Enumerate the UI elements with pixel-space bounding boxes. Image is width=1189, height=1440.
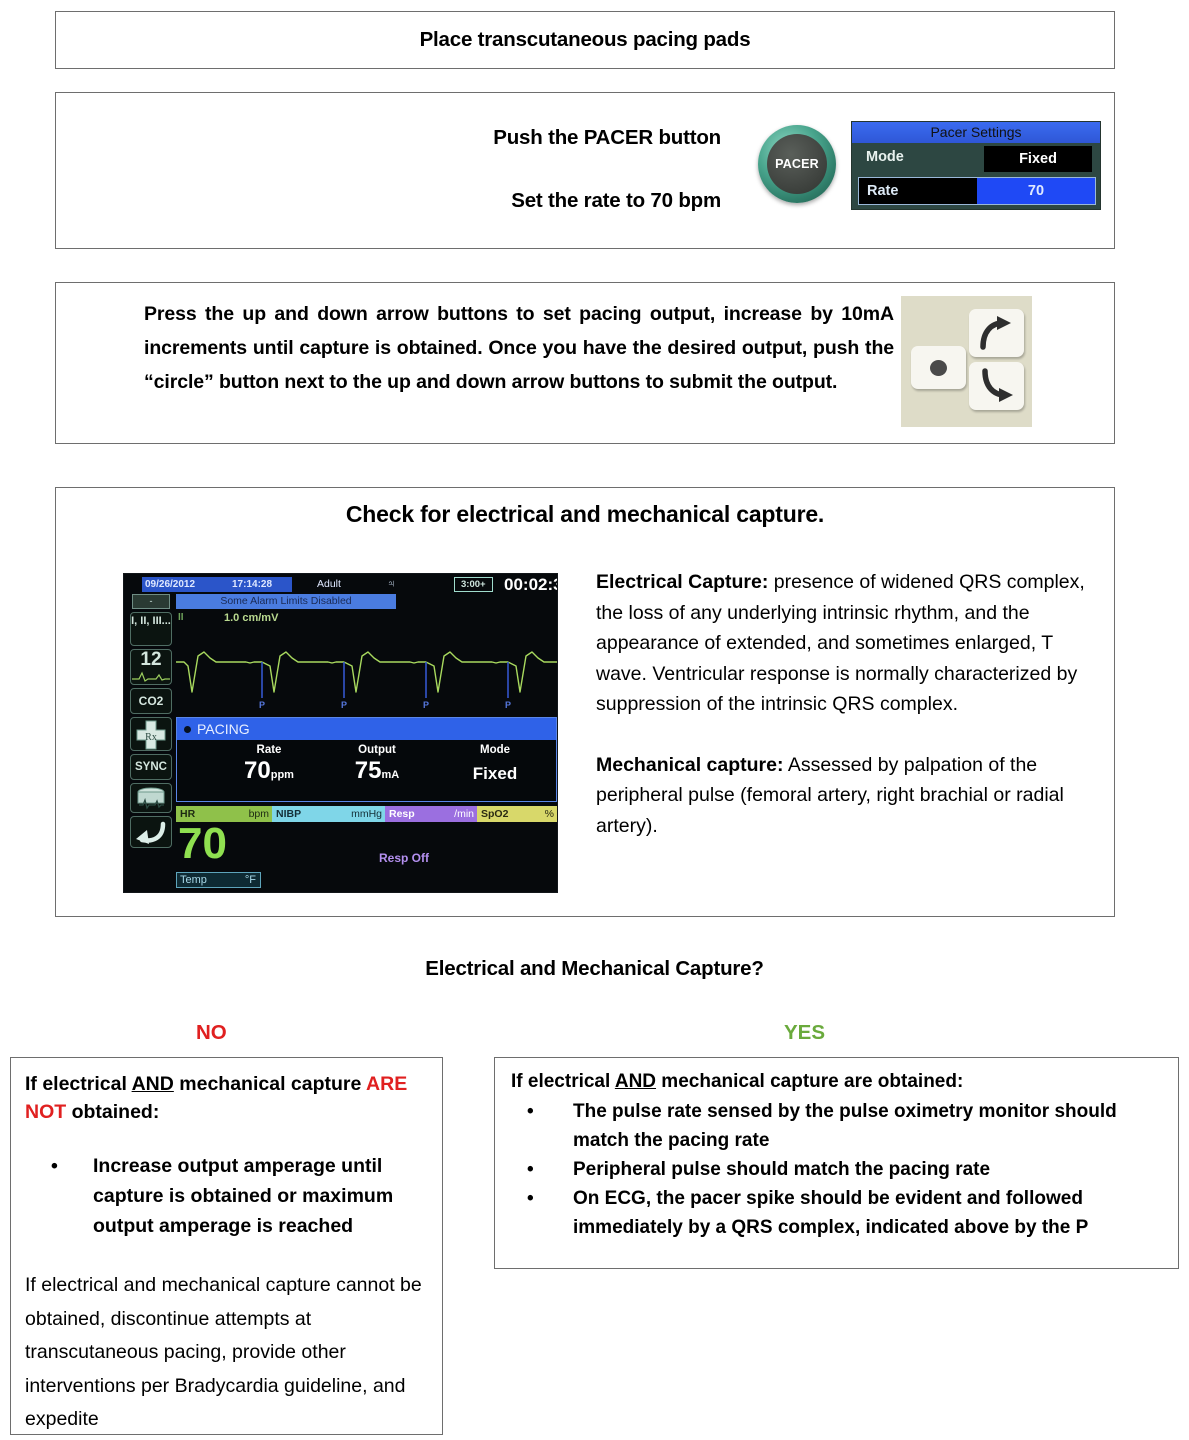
ecg-mini-icon bbox=[132, 670, 170, 682]
list-item: • On ECG, the pacer spike should be evid… bbox=[527, 1184, 1172, 1242]
monitor-pacing-rate: Rate 70ppm bbox=[219, 744, 319, 786]
up-arrow-button[interactable] bbox=[969, 309, 1024, 357]
electrical-capture-title: Electrical Capture: bbox=[596, 571, 768, 593]
yes-heading-and: AND bbox=[615, 1071, 656, 1092]
vital-spo2-header: SpO2 % bbox=[477, 806, 557, 822]
monitor-alarm-message: Some Alarm Limits Disabled bbox=[176, 594, 396, 609]
monitor-rail-sync-button[interactable]: SYNC bbox=[130, 754, 172, 780]
vital-spo2-label: SpO2 bbox=[481, 806, 508, 822]
bullet-marker-icon: • bbox=[527, 1155, 573, 1184]
vital-nibp-label: NIBP bbox=[276, 806, 301, 822]
bullet-marker-icon: • bbox=[51, 1151, 93, 1241]
svg-text:P: P bbox=[259, 700, 265, 710]
no-branch-bullet-item: • Increase output amperage until capture… bbox=[51, 1151, 441, 1241]
pacing-mode-label: Mode bbox=[445, 744, 545, 756]
pacing-output-label: Output bbox=[327, 744, 427, 756]
monitor-pacing-output: Output 75mA bbox=[327, 744, 427, 786]
list-item: • The pulse rate sensed by the pulse oxi… bbox=[527, 1097, 1172, 1155]
yes-bullet-text-1: The pulse rate sensed by the pulse oxime… bbox=[573, 1097, 1172, 1155]
page-title: Place transcutaneous pacing pads bbox=[56, 12, 1114, 67]
step-4-box: Check for electrical and mechanical capt… bbox=[55, 487, 1115, 917]
no-branch-heading: If electrical AND mechanical capture ARE… bbox=[25, 1070, 425, 1126]
arrow-buttons-photo bbox=[901, 296, 1032, 427]
no-heading-and: AND bbox=[132, 1073, 174, 1095]
ecg-lead-label: II bbox=[178, 612, 184, 623]
no-branch-bullet-text: Increase output amperage until capture i… bbox=[93, 1151, 441, 1241]
monitor-pacing-title: PACING bbox=[177, 718, 556, 740]
mechanical-capture-paragraph: Mechanical capture: Assessed by palpatio… bbox=[596, 750, 1088, 842]
defibrillator-monitor-screen: 09/26/2012 17:14:28 Adult ♃ 3:00+ 00:02:… bbox=[123, 573, 558, 893]
monitor-pacing-panel: PACING Rate 70ppm Output 75mA Mode Fixed bbox=[176, 717, 557, 802]
monitor-alarm-button[interactable]: - bbox=[132, 594, 170, 609]
set-rate-instruction: Set the rate to 70 bpm bbox=[56, 189, 721, 213]
monitor-temp-cell: Temp °F bbox=[176, 872, 261, 888]
monitor-hr-value: 70 bbox=[178, 822, 227, 866]
pacing-output-value: 75 bbox=[355, 757, 382, 784]
pacer-button-face: PACER bbox=[767, 134, 827, 194]
pacer-mode-row[interactable]: Mode Fixed bbox=[852, 143, 1100, 175]
ecg-trace: P P P P bbox=[176, 630, 557, 710]
pacer-settings-panel: Pacer Settings Mode Fixed Rate 70 bbox=[851, 121, 1101, 210]
yes-branch-heading: If electrical AND mechanical capture are… bbox=[511, 1069, 1161, 1095]
monitor-resp-status: Resp Off bbox=[379, 851, 429, 865]
monitor-countdown-badge: 3:00+ bbox=[454, 577, 493, 592]
monitor-rail-rx-button[interactable]: Rx bbox=[130, 717, 172, 751]
vital-nibp-unit: mmHg bbox=[351, 806, 382, 822]
check-capture-heading: Check for electrical and mechanical capt… bbox=[56, 501, 1114, 528]
yes-heading-part1: If electrical bbox=[511, 1071, 615, 1092]
pacer-rate-row[interactable]: Rate 70 bbox=[858, 177, 1096, 205]
pacing-mode-value: Fixed bbox=[445, 756, 545, 789]
vital-resp-label: Resp bbox=[389, 806, 415, 822]
yes-heading-part2: mechanical capture are obtained: bbox=[656, 1071, 963, 1092]
pacing-rate-value: 70 bbox=[244, 757, 271, 784]
pacing-output-unit: mA bbox=[381, 769, 399, 781]
bullet-marker-icon: • bbox=[527, 1184, 573, 1242]
ecg-waveform-area: II 1.0 cm/mV P P bbox=[176, 612, 557, 712]
monitor-elapsed-timer: 00:02:35 bbox=[504, 575, 558, 594]
ecg-gain-label: 1.0 cm/mV bbox=[224, 612, 278, 624]
printer-icon bbox=[133, 785, 169, 811]
no-heading-part2: mechanical capture bbox=[174, 1073, 366, 1095]
svg-text:P: P bbox=[505, 700, 511, 710]
medication-cross-icon: Rx bbox=[134, 720, 168, 750]
pacer-rate-value: 70 bbox=[977, 178, 1095, 204]
list-item: • Peripheral pulse should match the paci… bbox=[527, 1155, 1172, 1184]
down-arrow-button[interactable] bbox=[969, 362, 1024, 410]
step-1-box: Place transcutaneous pacing pads bbox=[55, 11, 1115, 69]
step-3-box: Press the up and down arrow buttons to s… bbox=[55, 282, 1115, 444]
bullet-marker-icon: • bbox=[527, 1097, 573, 1155]
circle-submit-button[interactable] bbox=[911, 346, 966, 389]
push-pacer-instruction: Push the PACER button bbox=[56, 126, 721, 150]
monitor-rail-leads-button[interactable]: I, II, III... bbox=[130, 612, 172, 646]
monitor-vitals-strip: HR bpm NIBP mmHg Resp /min SpO2 % bbox=[176, 806, 557, 822]
vital-resp-unit: /min bbox=[454, 806, 474, 822]
monitor-rail-12lead-label: 12 bbox=[131, 650, 171, 670]
electrical-capture-paragraph: Electrical Capture: presence of widened … bbox=[596, 567, 1088, 720]
vital-spo2-unit: % bbox=[545, 806, 554, 822]
pacing-title-text: PACING bbox=[197, 721, 250, 737]
monitor-temp-label: Temp bbox=[180, 873, 207, 887]
pacer-button-label: PACER bbox=[775, 157, 819, 171]
monitor-time: 17:14:28 bbox=[232, 577, 272, 592]
monitor-temp-unit: °F bbox=[245, 873, 256, 887]
svg-text:P: P bbox=[341, 700, 347, 710]
up-arrow-icon bbox=[977, 314, 1017, 352]
pacer-settings-header: Pacer Settings bbox=[852, 122, 1100, 143]
decision-no-label: NO bbox=[196, 1021, 227, 1045]
monitor-pacing-mode: Mode Fixed bbox=[445, 744, 545, 789]
monitor-rail-printer-button[interactable] bbox=[130, 783, 172, 813]
pacer-button[interactable]: PACER bbox=[758, 125, 836, 203]
monitor-top-bar: 09/26/2012 17:14:28 Adult ♃ 3:00+ 00:02:… bbox=[142, 577, 557, 592]
monitor-rail-back-button[interactable] bbox=[130, 816, 172, 848]
pacer-mode-label: Mode bbox=[866, 149, 904, 165]
monitor-rail-12lead-button[interactable]: 12 bbox=[130, 649, 172, 685]
back-arrow-icon bbox=[133, 818, 169, 846]
pacing-rate-unit: ppm bbox=[271, 769, 294, 781]
no-heading-part1: If electrical bbox=[25, 1073, 132, 1095]
no-branch-tail-text: If electrical and mechanical capture can… bbox=[25, 1269, 435, 1437]
yes-bullet-text-2: Peripheral pulse should match the pacing… bbox=[573, 1155, 1172, 1184]
vital-hr-unit: bpm bbox=[249, 806, 269, 822]
pacer-rate-label: Rate bbox=[859, 178, 977, 204]
paragraph-spacer bbox=[596, 720, 1088, 750]
mechanical-capture-title: Mechanical capture: bbox=[596, 754, 783, 776]
pacer-mode-value: Fixed bbox=[984, 146, 1092, 172]
decision-question: Electrical and Mechanical Capture? bbox=[0, 957, 1189, 981]
svg-text:P: P bbox=[423, 700, 429, 710]
antenna-icon: ♃ bbox=[387, 578, 395, 591]
capture-description: Electrical Capture: presence of widened … bbox=[596, 567, 1088, 841]
svg-text:Rx: Rx bbox=[145, 732, 157, 743]
down-arrow-icon bbox=[977, 367, 1017, 405]
no-heading-part3: obtained: bbox=[66, 1101, 159, 1123]
decision-yes-label: YES bbox=[784, 1021, 825, 1045]
step-2-box: Push the PACER button Set the rate to 70… bbox=[55, 92, 1115, 249]
circle-dot-icon bbox=[930, 360, 947, 376]
monitor-rail-co2-button[interactable]: CO2 bbox=[130, 688, 172, 714]
pacing-rate-label: Rate bbox=[219, 744, 319, 756]
yes-bullet-text-3: On ECG, the pacer spike should be eviden… bbox=[573, 1184, 1172, 1242]
yes-branch-box: If electrical AND mechanical capture are… bbox=[494, 1057, 1179, 1269]
vital-nibp-header: NIBP mmHg bbox=[272, 806, 385, 822]
yes-branch-bullet-list: • The pulse rate sensed by the pulse oxi… bbox=[527, 1097, 1172, 1242]
pacing-indicator-icon bbox=[184, 726, 191, 733]
vital-resp-header: Resp /min bbox=[385, 806, 477, 822]
no-branch-box: If electrical AND mechanical capture ARE… bbox=[10, 1057, 443, 1435]
pacing-output-instruction: Press the up and down arrow buttons to s… bbox=[144, 297, 894, 399]
monitor-patient-mode: Adult bbox=[317, 577, 341, 592]
